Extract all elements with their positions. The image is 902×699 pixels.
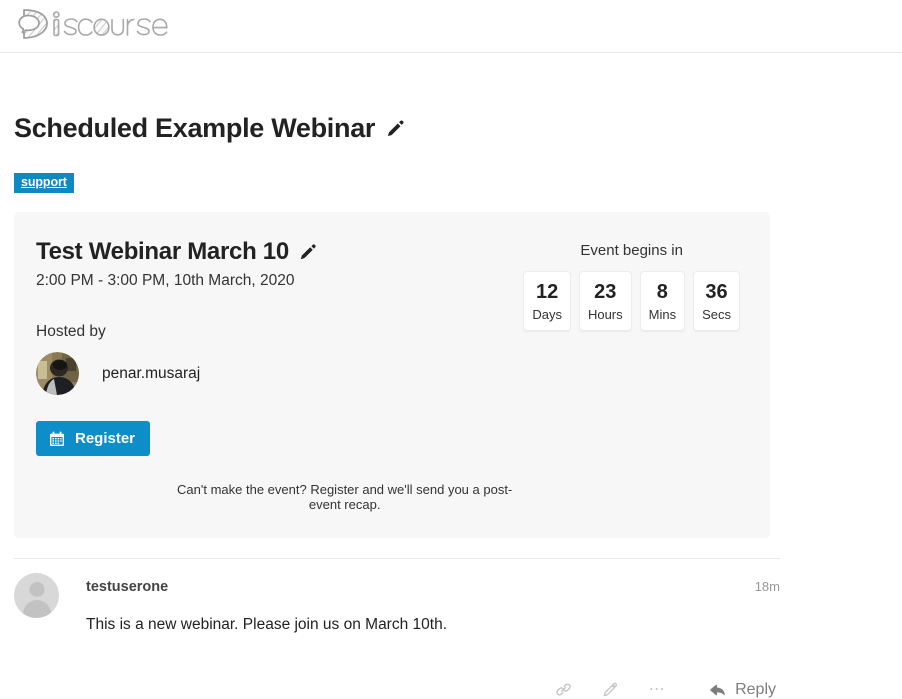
register-button[interactable]: Register: [36, 421, 150, 456]
countdown-secs-unit: Secs: [702, 307, 731, 322]
webinar-title-row: Test Webinar March 10: [36, 238, 523, 266]
avatar[interactable]: [36, 352, 79, 395]
register-button-label: Register: [75, 430, 135, 447]
post-actions: ⋯ Reply: [14, 675, 780, 699]
countdown-secs-value: 36: [702, 281, 731, 303]
topic-title-row: Scheduled Example Webinar: [14, 95, 888, 162]
site-header: [0, 0, 902, 53]
calendar-icon: [49, 431, 65, 447]
webinar-title: Test Webinar March 10: [36, 238, 289, 266]
webinar-card-left: Test Webinar March 10 2:00 PM - 3:00 PM,…: [36, 238, 523, 512]
edit-topic-title-pencil-icon[interactable]: [385, 118, 406, 139]
category-badge-support[interactable]: support: [14, 173, 74, 193]
countdown-mins: 8 Mins: [640, 271, 685, 331]
show-more-actions-ellipsis-icon[interactable]: ⋯: [641, 679, 675, 699]
countdown-hours: 23 Hours: [579, 271, 632, 331]
countdown-boxes: 12 Days 23 Hours 8 Mins 36 Secs: [523, 271, 740, 331]
host-row: penar.musaraj: [36, 352, 523, 395]
countdown-label: Event begins in: [523, 242, 740, 259]
page-title: Scheduled Example Webinar: [14, 113, 375, 144]
reply-button[interactable]: Reply: [698, 675, 780, 699]
avatar-head-shape: [29, 582, 44, 597]
hosted-by-label: Hosted by: [36, 323, 523, 341]
countdown-days: 12 Days: [523, 271, 571, 331]
avatar-body-shape: [23, 600, 51, 618]
edit-webinar-pencil-icon[interactable]: [298, 242, 318, 262]
reply-button-label: Reply: [735, 681, 776, 699]
post-username[interactable]: testuserone: [86, 573, 168, 595]
countdown-mins-value: 8: [649, 281, 676, 303]
page-content: Scheduled Example Webinar support Test W…: [0, 95, 902, 699]
recap-note: Can't make the event? Register and we'll…: [36, 482, 523, 512]
category-row: support: [14, 173, 888, 193]
countdown-mins-unit: Mins: [649, 307, 676, 322]
post-header: testuserone This is a new webinar. Pleas…: [14, 573, 780, 636]
avatar[interactable]: [14, 573, 59, 618]
countdown-days-value: 12: [532, 281, 562, 303]
discourse-logo-icon[interactable]: [14, 7, 172, 46]
post-text: This is a new webinar. Please join us on…: [86, 614, 780, 636]
countdown-panel: Event begins in 12 Days 23 Hours 8 Mins …: [523, 238, 740, 512]
share-link-icon[interactable]: [547, 675, 580, 699]
reply-arrow-icon: [708, 681, 726, 699]
webinar-dates: 2:00 PM - 3:00 PM, 10th March, 2020: [36, 272, 523, 290]
edit-post-pencil-icon[interactable]: [594, 675, 627, 699]
post-body: testuserone This is a new webinar. Pleas…: [86, 573, 780, 636]
post: 18m testuserone This is a new webinar. P…: [14, 559, 780, 699]
webinar-card: Test Webinar March 10 2:00 PM - 3:00 PM,…: [14, 212, 770, 538]
post-timestamp[interactable]: 18m: [755, 579, 780, 594]
countdown-hours-unit: Hours: [588, 307, 623, 322]
countdown-days-unit: Days: [532, 307, 562, 322]
ellipsis-glyph: ⋯: [649, 685, 667, 695]
countdown-secs: 36 Secs: [693, 271, 740, 331]
countdown-hours-value: 23: [588, 281, 623, 303]
host-username[interactable]: penar.musaraj: [102, 365, 200, 383]
